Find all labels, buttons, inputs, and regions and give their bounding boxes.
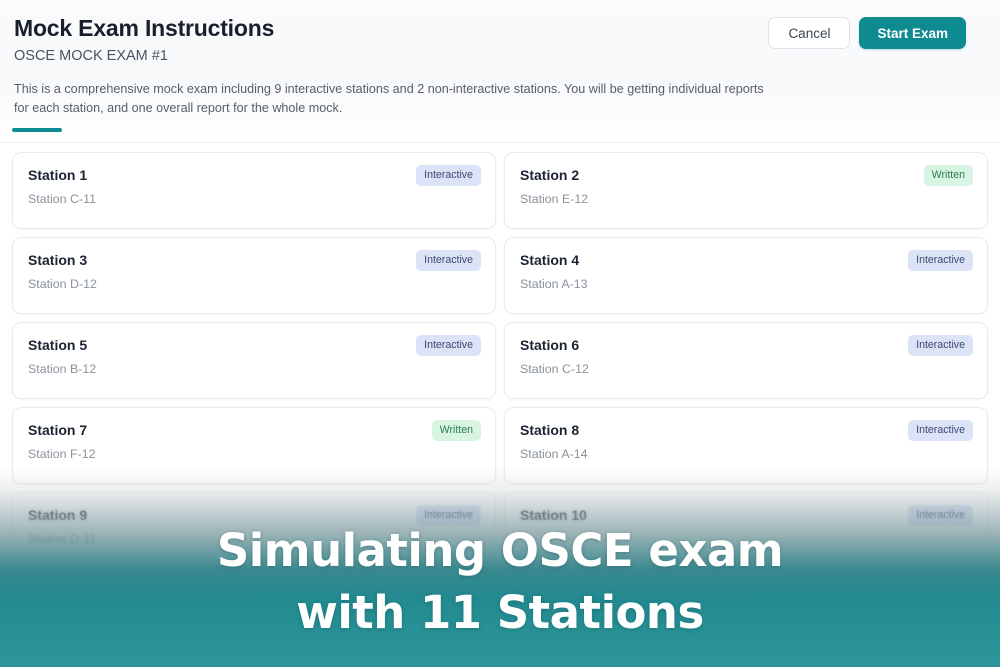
station-card[interactable]: Station 8Station A-14Interactive [504,407,988,484]
station-card-code: Station A-13 [520,276,972,293]
start-exam-button[interactable]: Start Exam [859,17,966,49]
station-card-code: Station B-12 [28,361,480,378]
station-card[interactable]: Station 5Station B-12Interactive [12,322,496,399]
station-card-title: Station 4 [520,251,972,269]
station-card[interactable] [504,577,988,654]
station-type-badge: Interactive [908,335,973,356]
station-type-badge: Interactive [416,505,481,526]
station-card-title: Station 3 [28,251,480,269]
station-type-badge: Interactive [908,420,973,441]
station-type-badge: Interactive [416,250,481,271]
station-type-badge: Interactive [908,505,973,526]
station-card-title: Station 10 [520,506,972,524]
station-card-code: Station A-14 [520,446,972,463]
page-header: Mock Exam Instructions OSCE MOCK EXAM #1… [0,0,1000,143]
station-card-code: Station F-12 [28,446,480,463]
station-card-title: Station 5 [28,336,480,354]
header-title-block: Mock Exam Instructions OSCE MOCK EXAM #1 [14,14,274,66]
station-card-code: Station D-11 [28,531,480,548]
page-subtitle: OSCE MOCK EXAM #1 [14,46,274,66]
station-card-code: Station D-12 [28,276,480,293]
cancel-button[interactable]: Cancel [768,17,850,49]
station-card[interactable]: Station 7Station F-12Written [12,407,496,484]
station-card[interactable]: Station 10Interactive [504,492,988,569]
station-card-code: Station C-11 [28,191,480,208]
station-card[interactable]: Station 9Station D-11Interactive [12,492,496,569]
station-type-badge: Written [432,420,481,441]
station-card-title: Station 8 [520,421,972,439]
station-list-scroll-area[interactable]: Station 1Station C-11InteractiveStation … [0,143,1000,667]
station-type-badge: Interactive [416,335,481,356]
station-card[interactable]: Station 4Station A-13Interactive [504,237,988,314]
station-type-badge: Interactive [416,165,481,186]
mock-exam-instructions-page: Mock Exam Instructions OSCE MOCK EXAM #1… [0,0,1000,667]
accent-bar [12,128,62,132]
station-card[interactable]: Station 11Station B-13 [12,577,496,654]
station-card[interactable]: Station 2Station E-12Written [504,152,988,229]
station-card-title: Station 2 [520,166,972,184]
station-card-title: Station 9 [28,506,480,524]
station-card-code: Station B-13 [28,616,480,633]
exam-description: This is a comprehensive mock exam includ… [14,80,774,117]
station-type-badge: Interactive [908,250,973,271]
header-actions: Cancel Start Exam [768,14,966,49]
station-card-title: Station 11 [28,591,480,609]
station-card-title: Station 7 [28,421,480,439]
station-card-code: Station E-12 [520,191,972,208]
station-type-badge: Written [924,165,973,186]
station-grid: Station 1Station C-11InteractiveStation … [0,143,1000,654]
station-card[interactable]: Station 3Station D-12Interactive [12,237,496,314]
header-top-row: Mock Exam Instructions OSCE MOCK EXAM #1… [14,14,966,66]
station-card-code: Station C-12 [520,361,972,378]
station-card[interactable]: Station 6Station C-12Interactive [504,322,988,399]
station-card-title: Station 1 [28,166,480,184]
page-title: Mock Exam Instructions [14,14,274,42]
station-card[interactable]: Station 1Station C-11Interactive [12,152,496,229]
station-card-title: Station 6 [520,336,972,354]
